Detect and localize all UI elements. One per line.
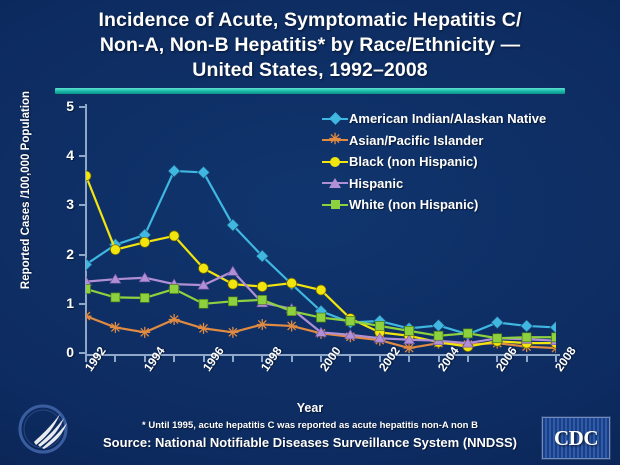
- cdc-logo-text: CDC: [554, 426, 598, 451]
- data-point: [316, 285, 326, 295]
- slide-canvas: Incidence of Acute, Symptomatic Hepatiti…: [0, 0, 620, 465]
- x-tick: [467, 356, 469, 362]
- data-point: [169, 231, 179, 241]
- x-tick: [114, 356, 116, 362]
- data-point: [199, 299, 208, 308]
- x-tick: [232, 356, 234, 362]
- y-tick: [79, 254, 86, 256]
- data-point: [227, 327, 238, 338]
- y-tick-label: 0: [50, 344, 74, 360]
- x-tick-label: 2008: [552, 344, 579, 374]
- legend-marker-square-icon: [322, 198, 348, 212]
- data-point: [86, 285, 91, 294]
- x-tick: [408, 356, 410, 362]
- data-point: [346, 317, 355, 326]
- data-point: [550, 321, 556, 333]
- marker-glyph: [330, 157, 340, 167]
- data-point: [228, 279, 238, 289]
- marker-glyph: [329, 112, 342, 125]
- title-line-1: Incidence of Acute, Symptomatic Hepatiti…: [0, 8, 620, 33]
- y-tick-label: 4: [50, 147, 74, 163]
- x-tick: [291, 356, 293, 362]
- y-tick: [79, 106, 86, 108]
- x-tick: [526, 356, 528, 362]
- data-point: [432, 319, 444, 331]
- x-tick: [173, 356, 175, 362]
- data-point: [257, 319, 268, 330]
- data-point: [110, 322, 121, 333]
- data-point: [258, 295, 267, 304]
- data-point: [170, 285, 179, 294]
- data-point: [287, 278, 297, 288]
- y-tick: [79, 155, 86, 157]
- title-line-2: Non-A, Non-B Hepatitis* by Race/Ethnicit…: [0, 33, 620, 58]
- page-title: Incidence of Acute, Symptomatic Hepatiti…: [0, 8, 620, 83]
- data-point: [522, 333, 531, 342]
- data-point: [140, 293, 149, 302]
- marker-glyph: ✳: [329, 135, 342, 145]
- data-point: [199, 263, 209, 273]
- data-point: [521, 320, 533, 332]
- chart-legend: American Indian/Alaskan Native✳Asian/Pac…: [322, 108, 578, 216]
- legend-marker-triangle-icon: [322, 176, 348, 190]
- data-point: [375, 321, 384, 330]
- data-point: [257, 282, 267, 292]
- legend-marker-circle-icon: [322, 155, 348, 169]
- data-point: [552, 333, 557, 342]
- legend-item-4[interactable]: Hispanic: [322, 173, 578, 195]
- y-tick-label: 2: [50, 246, 74, 262]
- marker-glyph: [331, 200, 340, 209]
- data-point: [434, 331, 443, 340]
- title-line-3: United States, 1992–2008: [0, 58, 620, 83]
- data-point: [86, 171, 91, 181]
- x-tick: [349, 356, 351, 362]
- data-point: [140, 237, 150, 247]
- y-tick: [79, 352, 86, 354]
- legend-marker-star-icon: ✳: [322, 133, 348, 147]
- data-point: [110, 245, 120, 255]
- data-point: [491, 316, 503, 328]
- data-point: [493, 334, 502, 343]
- legend-label: Hispanic: [349, 176, 403, 191]
- data-point: [198, 323, 209, 334]
- x-axis-title: Year: [0, 401, 620, 415]
- y-tick-label: 5: [50, 98, 74, 114]
- legend-label: Asian/Pacific Islander: [349, 133, 483, 148]
- legend-item-1[interactable]: American Indian/Alaskan Native: [322, 108, 578, 130]
- legend-item-3[interactable]: Black (non Hispanic): [322, 151, 578, 173]
- data-point: [86, 311, 92, 322]
- title-divider-bar: [55, 88, 565, 94]
- marker-glyph: [329, 178, 341, 188]
- data-point: [168, 165, 180, 177]
- data-point: [169, 314, 180, 325]
- y-tick: [79, 204, 86, 206]
- data-point: [317, 313, 326, 322]
- data-point: [228, 297, 237, 306]
- data-point: [227, 266, 238, 275]
- data-point: [463, 329, 472, 338]
- data-point: [111, 293, 120, 302]
- data-point: [139, 327, 150, 338]
- legend-label: Black (non Hispanic): [349, 154, 478, 169]
- data-point: [405, 326, 414, 335]
- data-point: [404, 343, 415, 353]
- y-tick: [79, 303, 86, 305]
- hhs-seal-logo: [14, 398, 76, 460]
- y-tick-label: 3: [50, 196, 74, 212]
- y-tick-label: 1: [50, 295, 74, 311]
- data-point: [197, 166, 209, 178]
- data-point: [286, 320, 297, 331]
- data-point: [287, 307, 296, 316]
- source-text: Source: National Notifiable Diseases Sur…: [0, 435, 620, 450]
- legend-label: American Indian/Alaskan Native: [349, 111, 546, 126]
- footnote-text: * Until 1995, acute hepatitis C was repo…: [0, 420, 620, 431]
- legend-item-2[interactable]: ✳Asian/Pacific Islander: [322, 130, 578, 152]
- cdc-logo: CDC: [542, 417, 610, 459]
- legend-item-5[interactable]: White (non Hispanic): [322, 194, 578, 216]
- y-axis-title: Reported Cases /100,000 Population: [20, 90, 32, 290]
- legend-marker-diamond-icon: [322, 112, 348, 126]
- legend-label: White (non Hispanic): [349, 197, 478, 212]
